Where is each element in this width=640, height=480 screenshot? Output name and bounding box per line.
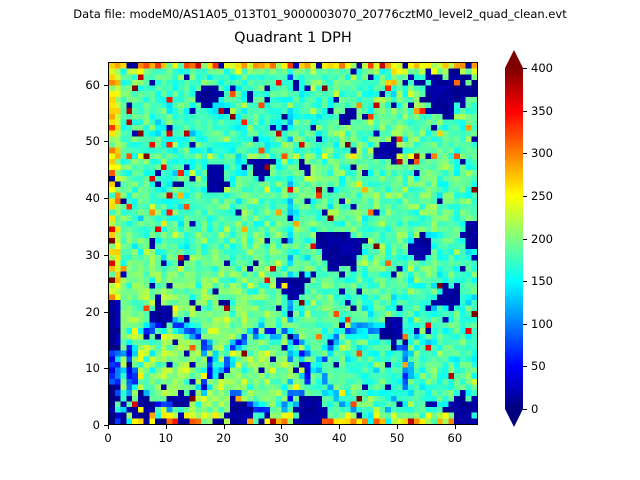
x-tick-label: 40 [332,431,347,445]
y-tick-mark [104,85,108,86]
x-tick-label: 60 [448,431,463,445]
y-tick-label: 40 [68,191,100,205]
y-tick-mark [104,312,108,313]
x-tick-label: 0 [104,431,111,445]
colorbar-extend-min-arrow [505,409,523,427]
heatmap-axes [108,62,478,425]
y-tick-label: 0 [68,418,100,432]
y-tick-label: 50 [68,134,100,148]
x-tick-mark [224,425,225,429]
colorbar-tick-label: 0 [531,402,538,416]
y-tick-mark [104,368,108,369]
colorbar-tick-label: 200 [531,232,553,246]
colorbar-gradient [505,68,523,409]
colorbar-tick-mark [523,196,527,197]
colorbar-tick-mark [523,111,527,112]
colorbar-extend-max-arrow [505,50,523,68]
colorbar-tick-label: 400 [531,61,553,75]
y-tick-mark [104,141,108,142]
colorbar-tick-mark [523,239,527,240]
y-tick-label: 20 [68,305,100,319]
colorbar-tick-mark [523,281,527,282]
x-tick-mark [339,425,340,429]
x-tick-mark [455,425,456,429]
y-tick-mark [104,255,108,256]
x-tick-mark [397,425,398,429]
colorbar-tick-mark [523,68,527,69]
x-tick-label: 10 [158,431,173,445]
colorbar-tick-label: 250 [531,189,553,203]
x-tick-mark [108,425,109,429]
colorbar-tick-mark [523,153,527,154]
colorbar-tick-label: 50 [531,359,546,373]
x-tick-label: 20 [216,431,231,445]
y-tick-mark [104,425,108,426]
y-tick-label: 10 [68,361,100,375]
y-tick-label: 60 [68,78,100,92]
colorbar-tick-label: 100 [531,317,553,331]
y-tick-label: 30 [68,248,100,262]
colorbar-tick-mark [523,324,527,325]
colorbar-tick-mark [523,366,527,367]
colorbar-tick-mark [523,409,527,410]
x-tick-mark [166,425,167,429]
heatmap-image [109,63,477,424]
x-tick-label: 30 [274,431,289,445]
colorbar: 050100150200250300350400 [505,50,625,440]
colorbar-body [505,68,523,409]
x-tick-label: 50 [390,431,405,445]
colorbar-tick-label: 300 [531,146,553,160]
colorbar-tick-label: 150 [531,274,553,288]
y-tick-mark [104,198,108,199]
axes-title: Quadrant 1 DPH [108,30,478,46]
figure-suptitle: Data file: modeM0/AS1A05_013T01_90000030… [0,7,640,21]
figure-canvas: Data file: modeM0/AS1A05_013T01_90000030… [0,0,640,480]
colorbar-tick-label: 350 [531,104,553,118]
x-tick-mark [281,425,282,429]
